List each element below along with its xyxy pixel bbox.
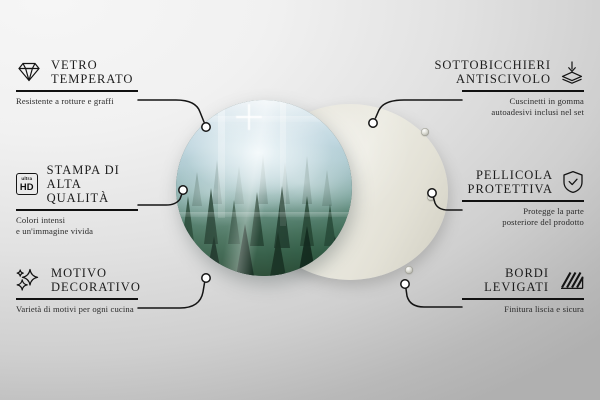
feature-description: Colori intensi e un'immagine vivida — [16, 215, 138, 237]
feature-description: Cuscinetti in gomma autoadesivi inclusi … — [462, 96, 584, 118]
pad-press-down-icon — [560, 60, 584, 84]
title-rule — [16, 209, 138, 211]
feature-description: Resistente a rotture e graffi — [16, 96, 138, 107]
connector-right-2 — [434, 198, 463, 210]
connector-endpoints-group — [179, 119, 436, 288]
diamond-icon — [16, 61, 42, 83]
polished-edge-icon — [558, 269, 584, 291]
feature-vetro-temperato: VETRO TEMPERATO Resistente a rotture e g… — [16, 58, 138, 107]
feature-description: Protegge la parte posteriore del prodott… — [462, 206, 584, 228]
connector-endpoint-left-1 — [202, 123, 210, 131]
feature-bordi-levigati: BORDI LEVIGATI Finitura liscia e sicura — [462, 266, 584, 315]
feature-description: Finitura liscia e sicura — [462, 304, 584, 315]
feature-stampa-alta-qualita: ultra HD STAMPA DI ALTA QUALITÀ Colori i… — [16, 163, 138, 237]
feature-motivo-decorativo: MOTIVO DECORATIVO Varietà di motivi per … — [16, 266, 138, 315]
title-rule — [16, 90, 138, 92]
connector-endpoint-right-3 — [401, 280, 409, 288]
feature-title: STAMPA DI ALTA QUALITÀ — [47, 163, 138, 205]
shield-check-icon — [562, 170, 584, 194]
connector-endpoint-left-2 — [179, 186, 187, 194]
ultra-hd-badge-icon: ultra HD — [16, 173, 38, 195]
title-rule — [462, 298, 584, 300]
feature-description: Varietà di motivi per ogni cucina — [16, 304, 138, 315]
badge-hd-label: HD — [20, 182, 34, 191]
feature-title: MOTIVO DECORATIVO — [51, 266, 141, 294]
infographic-canvas: VETRO TEMPERATO Resistente a rotture e g… — [0, 0, 600, 400]
connector-left-2 — [138, 195, 182, 205]
sparkles-icon — [16, 268, 42, 292]
feature-title: PELLICOLA PROTETTIVA — [468, 168, 553, 196]
feature-title: BORDI LEVIGATI — [484, 266, 549, 294]
connector-endpoint-right-2 — [428, 189, 436, 197]
feature-title: VETRO TEMPERATO — [51, 58, 133, 86]
feature-title: SOTTOBICCHIERI ANTISCIVOLO — [434, 58, 551, 86]
feature-sottobicchieri-antiscivolo: SOTTOBICCHIERI ANTISCIVOLO Cuscinetti in… — [462, 58, 584, 118]
connector-endpoint-right-1 — [369, 119, 377, 127]
title-rule — [16, 298, 138, 300]
title-rule — [462, 90, 584, 92]
feature-pellicola-protettiva: PELLICOLA PROTETTIVA Protegge la parte p… — [462, 168, 584, 228]
title-rule — [462, 200, 584, 202]
connector-right-1 — [376, 100, 463, 118]
connector-left-3 — [138, 283, 205, 308]
connector-endpoint-left-3 — [202, 274, 210, 282]
connector-left-1 — [138, 100, 204, 122]
connector-right-3 — [406, 289, 462, 307]
